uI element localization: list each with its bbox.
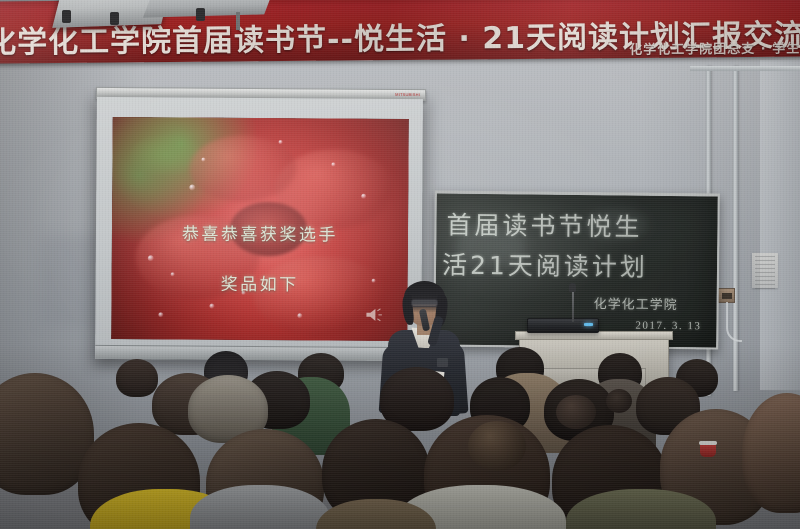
conduit-pipe-horizontal [690,66,800,71]
conduit-pipe [733,66,738,391]
audience-hair-bun [468,421,526,471]
banner-subtitle-text: 化学化工学院团总支 · 学生会 [629,37,800,58]
audience-head [742,393,800,513]
blackboard-department: 化学化工学院 [594,293,678,313]
amplifier-led-icon [584,323,593,326]
wall-outlet-box[interactable] [718,288,735,303]
wall-panel-right [760,60,800,390]
presenter-glasses [411,299,438,307]
seated-audience [0,344,800,529]
amplifier-unit[interactable] [527,318,599,333]
dew-drop [278,140,282,144]
slide-subline: 奖品如下 [112,269,408,296]
projected-slide: 恭喜恭喜获奖选手 奖品如下 [111,117,409,341]
gooseneck-microphone-head [569,283,576,292]
dew-drop [189,184,195,190]
mount-bolt [110,12,119,25]
photo-scene: 化学化工学院首届读书节--悦生活 · 21天阅读计划汇报交流会 化学化工学院团总… [0,0,800,529]
slide-headline: 恭喜恭喜获奖选手 [112,219,408,246]
audience-hair-bun [606,389,632,413]
mount-bolt [62,10,71,23]
dew-drop [147,255,153,261]
mount-rod [236,12,240,30]
speaker-icon [365,307,385,323]
cup-lid [699,441,717,445]
paper-notice [752,253,778,288]
rose-petal [253,256,390,337]
screen-brand-label: MITSUBISHI [395,92,420,97]
dew-drop [201,158,205,162]
blackboard-line-2: 活21天阅读计划 [442,246,648,284]
rose-petal [189,135,296,202]
blackboard-line-1: 首届读书节悦生 [446,206,642,244]
mount-bolt [196,8,205,21]
audience-head [116,359,158,397]
gooseneck-microphone-stand [572,288,574,322]
red-cup [700,443,716,457]
audience-hair-bun [556,395,596,429]
hanging-wire [726,302,742,342]
projection-screen: 恭喜恭喜获奖选手 奖品如下 [95,97,423,361]
